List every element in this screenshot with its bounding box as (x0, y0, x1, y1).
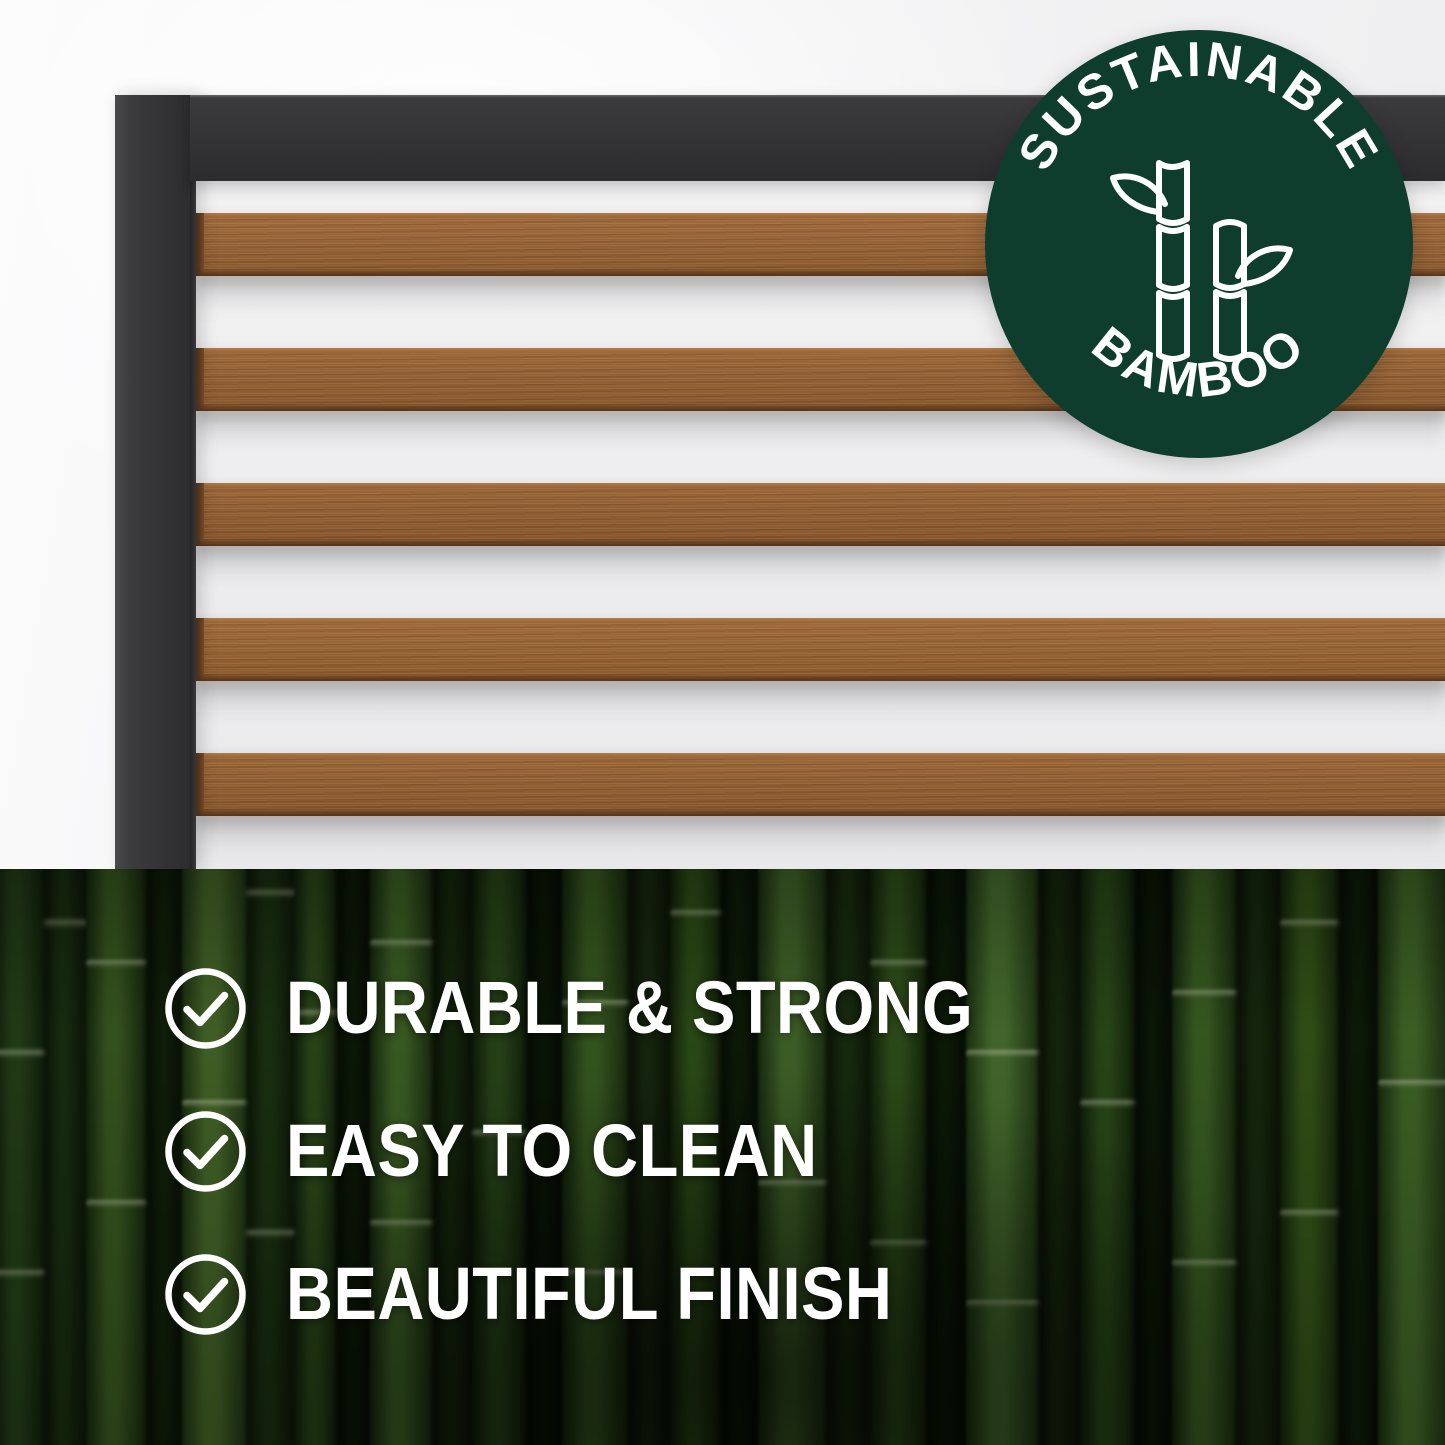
badge-bottom-label: BAMBOO (1082, 317, 1316, 409)
frame-post-inner-edge (190, 181, 196, 869)
feature-label: EASY TO CLEAN (286, 1114, 818, 1188)
slat-end-cap (195, 213, 204, 276)
check-circle-icon (163, 1252, 248, 1337)
feature-list: DURABLE & STRONGEASY TO CLEANBEAUTIFUL F… (0, 869, 1445, 1445)
badge-top-label: SUSTAINABLE (1008, 32, 1389, 179)
slat-cast-shadow (195, 543, 1445, 583)
slat-cast-shadow (195, 678, 1445, 718)
wood-slat (195, 483, 1445, 546)
slat-end-cap (195, 483, 204, 546)
feature-label: DURABLE & STRONG (286, 971, 973, 1045)
check-circle-icon (163, 966, 248, 1051)
frame-left-post (115, 95, 195, 869)
check-circle-icon (163, 1109, 248, 1194)
sustainable-bamboo-badge: SUSTAINABLE BAMBOO (985, 30, 1413, 458)
slat-cast-shadow (195, 813, 1445, 853)
wood-slat (195, 753, 1445, 816)
features-panel: DURABLE & STRONGEASY TO CLEANBEAUTIFUL F… (0, 869, 1445, 1445)
product-photo-panel: SUSTAINABLE BAMBOO (0, 0, 1445, 869)
feature-label: BEAUTIFUL FINISH (286, 1257, 892, 1331)
slat-end-cap (195, 618, 204, 681)
bamboo-stalks-icon (1113, 163, 1290, 359)
feature-row: EASY TO CLEAN (163, 1108, 1445, 1194)
product-feature-graphic: SUSTAINABLE BAMBOO (0, 0, 1445, 1445)
slat-end-cap (195, 348, 204, 411)
feature-row: DURABLE & STRONG (163, 965, 1445, 1051)
slat-end-cap (195, 753, 204, 816)
wood-slat (195, 618, 1445, 681)
feature-row: BEAUTIFUL FINISH (163, 1251, 1445, 1337)
